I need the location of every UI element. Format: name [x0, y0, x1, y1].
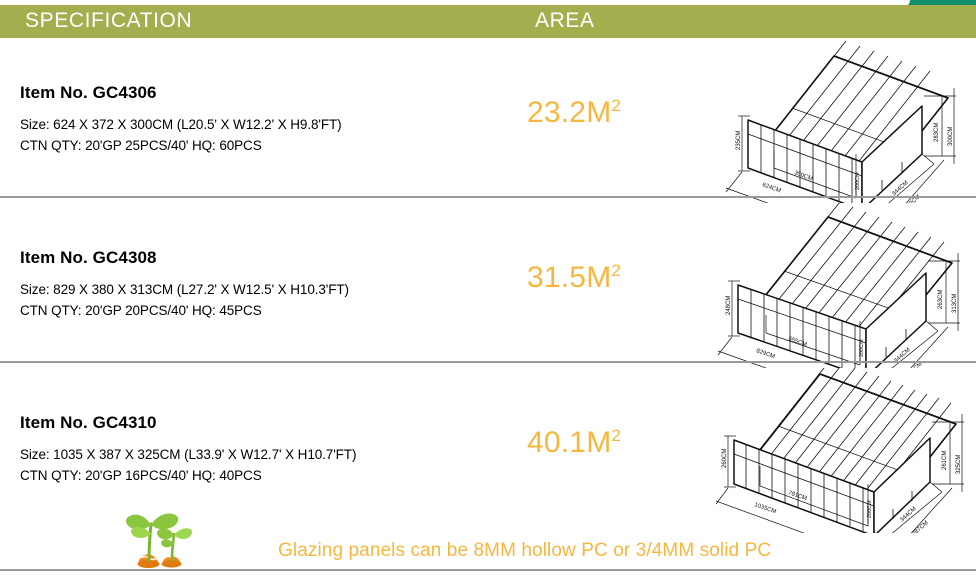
dim-eave-height: 248CM — [726, 296, 732, 315]
dim-total-length: 624CM — [761, 182, 781, 194]
table-row: Item No. GC4306 Size: 624 X 372 X 300CM … — [0, 38, 976, 203]
sprout-plant-icon — [124, 508, 214, 570]
column-header-area: AREA — [535, 9, 595, 33]
dim-eave-height: 235CM — [736, 131, 742, 150]
dim-total-length: 829CM — [755, 348, 775, 360]
item-title: Item No. GC4306 — [20, 83, 460, 103]
item-size-line: Size: 624 X 372 X 300CM (L20.5' X W12.2'… — [20, 117, 460, 132]
dim-roof-width: 344CM — [891, 180, 909, 197]
footer: Glazing panels can be 8MM hollow PC or 3… — [0, 500, 976, 570]
item-size-line: Size: 1035 X 387 X 325CM (L33.9' X W12.7… — [20, 447, 460, 462]
dim-ridge-height: 300CM — [948, 127, 954, 146]
spec-block: Item No. GC4306 Size: 624 X 372 X 300CM … — [20, 83, 460, 159]
area-number: 23.2M — [527, 96, 611, 129]
area-number: 40.1M — [527, 426, 611, 459]
area-exponent: 2 — [611, 261, 621, 280]
area-value: 40.1M2 — [527, 426, 621, 460]
dim-ridge-height: 325CM — [956, 455, 962, 474]
item-size-line: Size: 829 X 380 X 313CM (L27.2' X W12.5'… — [20, 282, 460, 297]
area-exponent: 2 — [611, 426, 621, 445]
item-ctn-line: CTN QTY: 20'GP 20PCS/40' HQ: 45PCS — [20, 303, 460, 318]
footer-note: Glazing panels can be 8MM hollow PC or 3… — [278, 540, 771, 562]
table-header-bar: SPECIFICATION AREA — [0, 5, 976, 38]
bottom-divider — [0, 569, 976, 571]
dim-ridge-inner: 263CM — [938, 290, 944, 309]
item-ctn-line: CTN QTY: 20'GP 16PCS/40' HQ: 40PCS — [20, 468, 460, 483]
spec-block: Item No. GC4310 Size: 1035 X 387 X 325CM… — [20, 413, 460, 489]
greenhouse-diagram: 248CM 263CM 313CM 200CM 555CM — [716, 203, 976, 368]
column-header-specification: SPECIFICATION — [25, 9, 192, 33]
area-value: 23.2M2 — [527, 96, 621, 130]
item-title: Item No. GC4310 — [20, 413, 460, 433]
item-ctn-line: CTN QTY: 20'GP 25PCS/40' HQ: 60PCS — [20, 138, 460, 153]
area-exponent: 2 — [611, 96, 621, 115]
area-number: 31.5M — [527, 261, 611, 294]
dim-ridge-inner: 283CM — [934, 123, 940, 142]
greenhouse-diagram: 235CM 283CM 300CM 200CM — [716, 38, 976, 203]
area-value: 31.5M2 — [527, 261, 621, 295]
table-row: Item No. GC4308 Size: 829 X 380 X 313CM … — [0, 203, 976, 368]
row-divider — [0, 361, 976, 363]
item-title: Item No. GC4308 — [20, 248, 460, 268]
dim-ridge-height: 313CM — [952, 294, 958, 313]
dim-ridge-inner: 261CM — [942, 451, 948, 470]
row-divider — [0, 196, 976, 198]
spec-block: Item No. GC4308 Size: 829 X 380 X 313CM … — [20, 248, 460, 324]
dim-eave-height: 260CM — [722, 449, 728, 468]
